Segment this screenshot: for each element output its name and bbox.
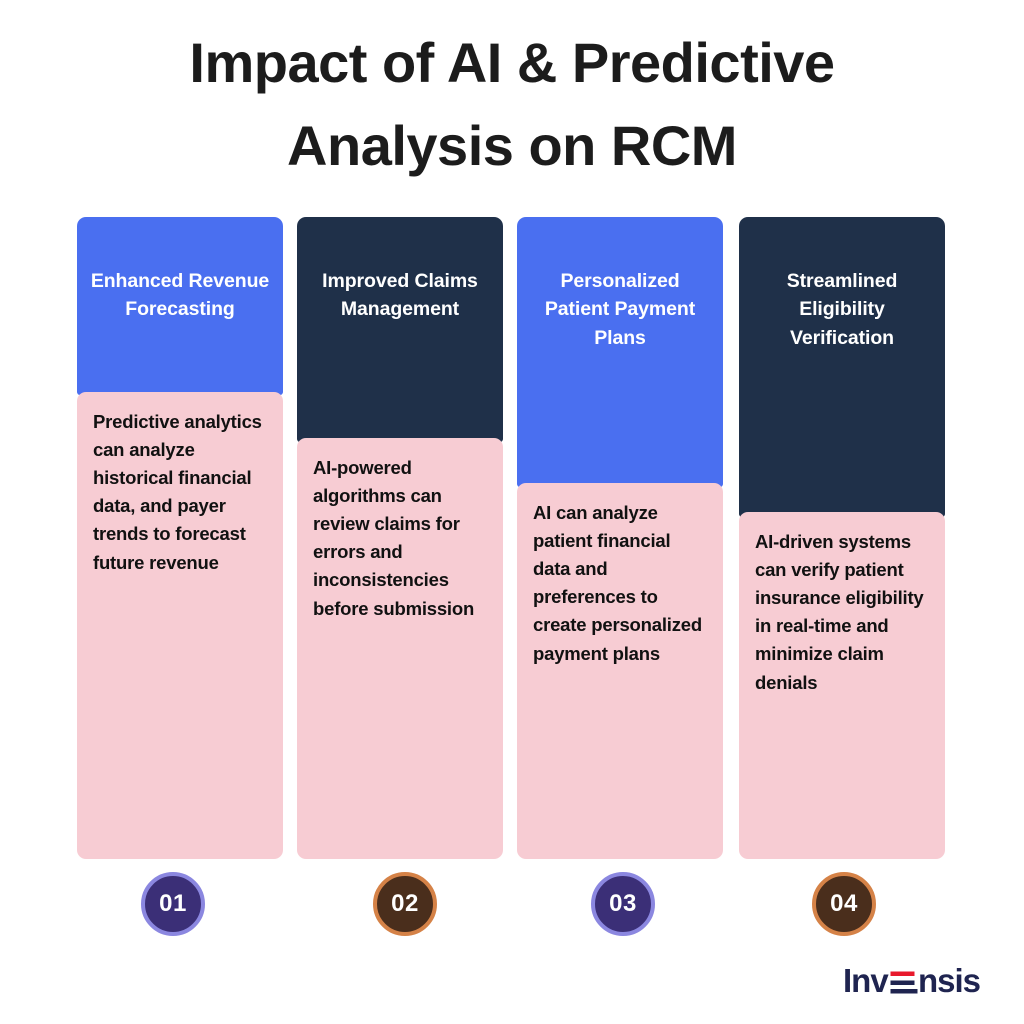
svg-text:nsis: nsis bbox=[918, 962, 980, 999]
card-1[interactable]: Enhanced Revenue Forecasting Predictive … bbox=[77, 217, 283, 859]
card-4-body-text: AI-driven systems can verify patient ins… bbox=[755, 528, 931, 697]
cards-row: Enhanced Revenue Forecasting Predictive … bbox=[77, 217, 947, 859]
card-1-heading: Enhanced Revenue Forecasting bbox=[89, 267, 271, 324]
step-badge-04: 04 bbox=[812, 872, 876, 936]
card-2-heading: Improved Claims Management bbox=[309, 267, 491, 324]
invensis-logo-icon: Inv nsis bbox=[843, 958, 1003, 1004]
card-3-body: AI can analyze patient financial data an… bbox=[517, 483, 723, 859]
step-badge-03-label: 03 bbox=[609, 890, 637, 918]
card-2-body-text: AI-powered algorithms can review claims … bbox=[313, 454, 489, 623]
card-2[interactable]: Improved Claims Management AI-powered al… bbox=[297, 217, 503, 859]
infographic-poster: Impact of AI & Predictive Analysis on RC… bbox=[0, 0, 1024, 1024]
card-3-body-text: AI can analyze patient financial data an… bbox=[533, 499, 709, 668]
badges-row: 01 02 03 04 bbox=[77, 872, 947, 942]
step-badge-03: 03 bbox=[591, 872, 655, 936]
card-1-header: Enhanced Revenue Forecasting bbox=[77, 217, 283, 395]
logo-e-bottom-bar bbox=[891, 989, 918, 994]
step-badge-01: 01 bbox=[141, 872, 205, 936]
card-4-heading: Streamlined Eligibility Verification bbox=[751, 267, 933, 352]
card-4-header: Streamlined Eligibility Verification bbox=[739, 217, 945, 517]
card-4[interactable]: Streamlined Eligibility Verification AI-… bbox=[739, 217, 945, 859]
card-4-body: AI-driven systems can verify patient ins… bbox=[739, 512, 945, 859]
card-3-header: Personalized Patient Payment Plans bbox=[517, 217, 723, 487]
logo-e-mid-bar bbox=[891, 981, 915, 986]
card-3[interactable]: Personalized Patient Payment Plans AI ca… bbox=[517, 217, 723, 859]
step-badge-02: 02 bbox=[373, 872, 437, 936]
card-2-header: Improved Claims Management bbox=[297, 217, 503, 442]
card-3-heading: Personalized Patient Payment Plans bbox=[529, 267, 711, 352]
card-2-body: AI-powered algorithms can review claims … bbox=[297, 438, 503, 859]
card-1-body-text: Predictive analytics can analyze histori… bbox=[93, 408, 269, 577]
title-container: Impact of AI & Predictive Analysis on RC… bbox=[0, 22, 1024, 188]
step-badge-04-label: 04 bbox=[830, 890, 858, 918]
logo-e-top-bar bbox=[891, 972, 915, 977]
step-badge-02-label: 02 bbox=[391, 890, 419, 918]
card-1-body: Predictive analytics can analyze histori… bbox=[77, 392, 283, 859]
invensis-logo: Inv nsis bbox=[843, 958, 1003, 1004]
step-badge-01-label: 01 bbox=[159, 890, 187, 918]
page-title: Impact of AI & Predictive Analysis on RC… bbox=[0, 22, 1024, 188]
svg-text:Inv: Inv bbox=[843, 962, 889, 999]
